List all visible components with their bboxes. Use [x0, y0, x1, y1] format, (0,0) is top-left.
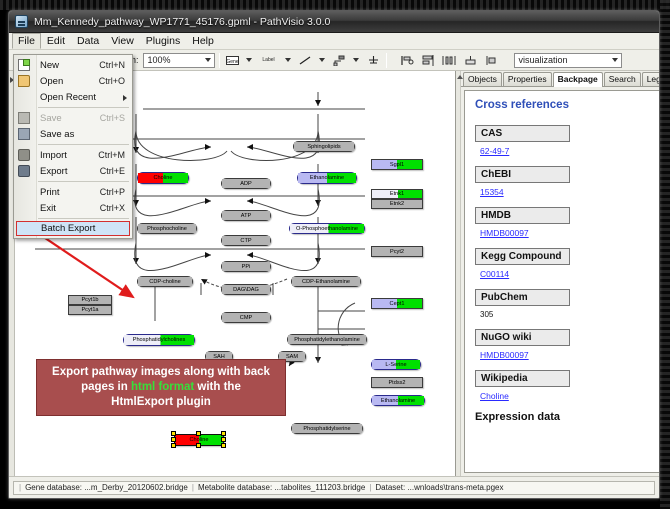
align-tool-button[interactable]: [399, 52, 416, 69]
metabolite-node-o-phosphoethan[interactable]: O-Phosphoethanolamine: [289, 223, 365, 234]
menu-edit[interactable]: Edit: [41, 33, 71, 49]
node-label: Cept1: [390, 301, 405, 307]
cross-reference-source-nugo-wiki: NuGO wiki: [475, 329, 570, 346]
datanode-dropdown-icon[interactable]: [245, 58, 254, 62]
menu-item-export-label: Export: [40, 166, 67, 177]
menu-item-save-as[interactable]: Save as: [14, 126, 132, 142]
node-label: Sphingolipids: [307, 144, 340, 150]
menu-item-new[interactable]: New Ctrl+N: [14, 57, 132, 73]
gene-node-etnk1[interactable]: Etnk1: [371, 189, 423, 199]
node-label: CMP: [240, 315, 252, 321]
node-label: Ethanolamine: [310, 175, 344, 181]
expression-data-heading: Expression data: [475, 411, 660, 423]
node-label: L-Serine: [385, 362, 406, 368]
node-label: Phosphatidylserine: [303, 426, 350, 432]
menu-help[interactable]: Help: [186, 33, 220, 49]
node-label: O-Phosphoethanolamine: [296, 226, 358, 232]
menu-divider-4: [38, 218, 129, 219]
order-tool-button[interactable]: [483, 52, 500, 69]
side-panel-tabstrip: Objects Properties Backpage Search Legen…: [461, 71, 660, 87]
panel-splitter[interactable]: [456, 71, 461, 476]
menu-item-import[interactable]: Import Ctrl+M: [14, 147, 132, 163]
status-text: | Gene database: ...m_Derby_20120602.bri…: [13, 481, 655, 495]
tab-search[interactable]: Search: [604, 72, 641, 86]
status-dataset: Dataset: ...wnloads\trans-meta.pgex: [373, 483, 505, 492]
tab-backpage[interactable]: Backpage: [553, 72, 603, 87]
selection-handle[interactable]: [171, 431, 176, 436]
menu-item-import-accel: Ctrl+M: [98, 150, 132, 160]
metabolite-node-dagdag[interactable]: DAG\DAG: [221, 284, 271, 295]
menu-item-open-recent-label: Open Recent: [40, 92, 96, 103]
save-icon: [18, 112, 30, 124]
cross-reference-value-nugo-wiki[interactable]: HMDB00097: [480, 350, 660, 360]
cross-reference-value-chebi[interactable]: 15354: [480, 187, 660, 197]
node-label: Etnk2: [390, 201, 404, 207]
metabolite-node-choline-top[interactable]: Choline: [137, 172, 189, 184]
node-label: CTP: [240, 238, 251, 244]
save-as-icon: [18, 128, 30, 140]
menu-item-open[interactable]: Open Ctrl+O: [14, 73, 132, 89]
menu-item-save-as-label: Save as: [40, 129, 74, 140]
window-titlebar: Mm_Kennedy_pathway_WP1771_45176.gpml - P…: [9, 11, 659, 33]
metabolite-node-cdp-choline[interactable]: CDP-choline: [137, 276, 193, 287]
menu-item-print[interactable]: Print Ctrl+P: [14, 184, 132, 200]
menu-divider-3: [38, 181, 129, 182]
cross-reference-list: CAS62-49-7ChEBI15354HMDBHMDB00097Kegg Co…: [475, 125, 660, 401]
cross-reference-value-pubchem: 305: [480, 310, 660, 319]
anchor-tool-button[interactable]: [365, 52, 382, 69]
datanode-tool-button[interactable]: Gene: [224, 52, 241, 69]
cross-reference-value-cas[interactable]: 62-49-7: [480, 146, 660, 156]
distribute-tool-button[interactable]: [441, 52, 458, 69]
side-panel: Objects Properties Backpage Search Legen…: [456, 71, 660, 476]
node-label: Phosphatidylcholines: [133, 337, 186, 343]
selection-handle[interactable]: [196, 431, 201, 436]
selection-handle[interactable]: [221, 437, 226, 442]
metabolite-node-l-serine[interactable]: L-Serine: [371, 359, 421, 370]
metabolite-node-phosphocholine[interactable]: Phosphocholine: [137, 223, 197, 234]
menu-item-exit-accel: Ctrl+X: [100, 203, 132, 213]
callout-line-2-highlight: html format: [131, 381, 194, 393]
menu-item-save-label: Save: [40, 113, 62, 124]
node-label: PPi: [242, 264, 251, 270]
file-menu-popup[interactable]: New Ctrl+N Open Ctrl+O Open Recent Save …: [13, 54, 133, 239]
menu-file[interactable]: File: [12, 33, 41, 49]
metabolite-node-ctp[interactable]: CTP: [221, 235, 271, 246]
callout-line-2a: pages in: [81, 381, 131, 393]
chevron-down-icon-2: [612, 58, 618, 62]
cross-reference-source-hmdb: HMDB: [475, 207, 570, 224]
menu-divider-1: [38, 107, 129, 108]
chevron-down-icon: [205, 58, 211, 62]
menu-item-batch-export-label: Batch Export: [41, 223, 95, 234]
metabolite-node-atp[interactable]: ATP: [221, 210, 271, 221]
application-icon: [15, 15, 28, 28]
visualization-value: visualization: [519, 55, 568, 65]
menu-item-batch-export[interactable]: Batch Export: [16, 221, 130, 236]
new-document-icon: [18, 59, 30, 71]
selection-handle[interactable]: [196, 443, 201, 448]
zoom-combobox[interactable]: 100%: [143, 53, 215, 68]
node-label: ADP: [240, 181, 252, 187]
cross-reference-source-wikipedia: Wikipedia: [475, 370, 570, 387]
cross-reference-value-kegg-compound[interactable]: C00114: [480, 269, 660, 279]
menu-item-new-accel: Ctrl+N: [99, 60, 132, 70]
menu-view[interactable]: View: [105, 33, 140, 49]
selection-handle[interactable]: [221, 431, 226, 436]
menu-item-open-accel: Ctrl+O: [99, 76, 132, 86]
cross-reference-source-kegg-compound: Kegg Compound: [475, 248, 570, 265]
node-label: Phosphatidylethanolamine: [294, 337, 360, 343]
menu-item-exit[interactable]: Exit Ctrl+X: [14, 200, 132, 216]
selection-handle[interactable]: [171, 437, 176, 442]
metabolite-node-phosphatidylcholines[interactable]: Phosphatidylcholines: [123, 334, 195, 346]
callout-line-3: HtmlExport plugin: [111, 396, 211, 408]
status-bar: | Gene database: ...m_Derby_20120602.bri…: [9, 476, 659, 498]
callout-line-1: Export pathway images along with back: [52, 366, 270, 378]
node-label: CDP-Ethanolamine: [302, 279, 350, 285]
callout-line-2b: with the: [194, 381, 241, 393]
node-label: CDP-choline: [149, 279, 180, 285]
menu-item-export-accel: Ctrl+E: [100, 166, 132, 176]
menu-item-print-accel: Ctrl+P: [100, 187, 132, 197]
visualization-combobox[interactable]: visualization: [514, 53, 622, 68]
gene-node-sgpl1[interactable]: Sgpl1: [371, 159, 423, 170]
export-icon: [18, 165, 30, 177]
import-icon: [18, 149, 30, 161]
menu-item-export[interactable]: Export Ctrl+E: [14, 163, 132, 179]
selection-handle[interactable]: [221, 443, 226, 448]
tab-legend[interactable]: Legend: [642, 72, 660, 86]
pathvisio-application-window: Mm_Kennedy_pathway_WP1771_45176.gpml - P…: [8, 10, 660, 499]
toolbar-separator-2: [386, 53, 387, 68]
menu-item-open-recent[interactable]: Open Recent: [14, 89, 132, 105]
node-label: Choline: [154, 175, 173, 181]
metabolite-node-cmp[interactable]: CMP: [221, 312, 271, 323]
metabolite-node-cdp-ethanolamine[interactable]: CDP-Ethanolamine: [291, 276, 361, 287]
menu-item-exit-label: Exit: [40, 203, 56, 214]
node-label: Pcyt2: [390, 249, 404, 255]
menu-data[interactable]: Data: [71, 33, 105, 49]
menu-divider-2: [38, 144, 129, 145]
tab-objects[interactable]: Objects: [463, 72, 502, 86]
node-label: Etnk1: [390, 191, 404, 197]
metabolite-node-phosphatidylserine[interactable]: Phosphatidylserine: [291, 423, 363, 434]
gene-node-pcyt2[interactable]: Pcyt2: [371, 246, 423, 257]
group-tool-button[interactable]: [462, 52, 479, 69]
metabolite-node-sphingolipids[interactable]: Sphingolipids: [293, 141, 355, 152]
label-dropdown-icon[interactable]: [284, 58, 293, 62]
window-title: Mm_Kennedy_pathway_WP1771_45176.gpml - P…: [34, 16, 330, 28]
gene-node-pcyt1a[interactable]: Pcyt1a: [68, 305, 112, 315]
svg-text:Gene: Gene: [226, 59, 238, 65]
menu-item-print-label: Print: [40, 187, 60, 198]
status-metabolite-database: Metabolite database: ...tabolites_111203…: [196, 483, 367, 492]
zoom-value: 100%: [148, 55, 171, 65]
annotation-callout: Export pathway images along with back pa…: [36, 359, 286, 416]
node-label: Ethanolamine: [381, 398, 415, 404]
tab-properties[interactable]: Properties: [503, 72, 552, 86]
cross-reference-source-cas: CAS: [475, 125, 570, 142]
gene-node-ptdss2[interactable]: Ptdss2: [371, 377, 423, 388]
backpage-content[interactable]: Cross references CAS62-49-7ChEBI15354HMD…: [464, 90, 660, 473]
label-tool-button[interactable]: Label: [258, 52, 280, 69]
node-label: ATP: [241, 213, 251, 219]
menu-item-import-label: Import: [40, 150, 67, 161]
menu-bar: File Edit Data View Plugins Help: [9, 33, 659, 50]
node-label: Ptdss2: [388, 380, 405, 386]
interaction-dropdown-icon[interactable]: [352, 58, 361, 62]
stack-tool-button[interactable]: [420, 52, 437, 69]
toolbar-separator: [219, 53, 220, 68]
node-label: Pcyt1b: [81, 297, 98, 303]
cross-reference-value-wikipedia[interactable]: Choline: [480, 391, 660, 401]
menu-item-new-label: New: [40, 60, 59, 71]
cross-reference-source-pubchem: PubChem: [475, 289, 570, 306]
selection-handle[interactable]: [171, 443, 176, 448]
node-label: DAG\DAG: [233, 287, 259, 293]
menu-item-open-label: Open: [40, 76, 63, 87]
interaction-tool-button[interactable]: [331, 52, 348, 69]
gene-node-etnk2[interactable]: Etnk2: [371, 199, 423, 209]
menu-plugins[interactable]: Plugins: [140, 33, 186, 49]
node-label: Phosphocholine: [147, 226, 187, 232]
metabolite-node-ethanolamine-bot[interactable]: Ethanolamine: [371, 395, 425, 406]
metabolite-node-adp[interactable]: ADP: [221, 178, 271, 189]
gene-node-cept1[interactable]: Cept1: [371, 298, 423, 309]
metabolite-node-ppi[interactable]: PPi: [221, 261, 271, 272]
gene-node-pcyt1b[interactable]: Pcyt1b: [68, 295, 112, 305]
open-folder-icon: [18, 75, 30, 87]
backpage-title: Cross references: [475, 99, 660, 111]
screenshot-root: Mm_Kennedy_pathway_WP1771_45176.gpml - P…: [0, 0, 670, 509]
cross-reference-value-hmdb[interactable]: HMDB00097: [480, 228, 660, 238]
metabolite-node-phosphatidylethan[interactable]: Phosphatidylethanolamine: [287, 334, 367, 345]
node-label: Pcyt1a: [81, 307, 98, 313]
node-label: SAM: [286, 354, 298, 360]
status-gene-database: Gene database: ...m_Derby_20120602.bridg…: [23, 483, 190, 492]
node-label: Sgpl1: [390, 162, 404, 168]
menu-item-save: Save Ctrl+S: [14, 110, 132, 126]
line-dropdown-icon[interactable]: [318, 58, 327, 62]
cross-reference-source-chebi: ChEBI: [475, 166, 570, 183]
line-tool-button[interactable]: [297, 52, 314, 69]
menu-item-save-accel: Ctrl+S: [100, 113, 132, 123]
metabolite-node-ethanolamine-top[interactable]: Ethanolamine: [297, 172, 357, 184]
